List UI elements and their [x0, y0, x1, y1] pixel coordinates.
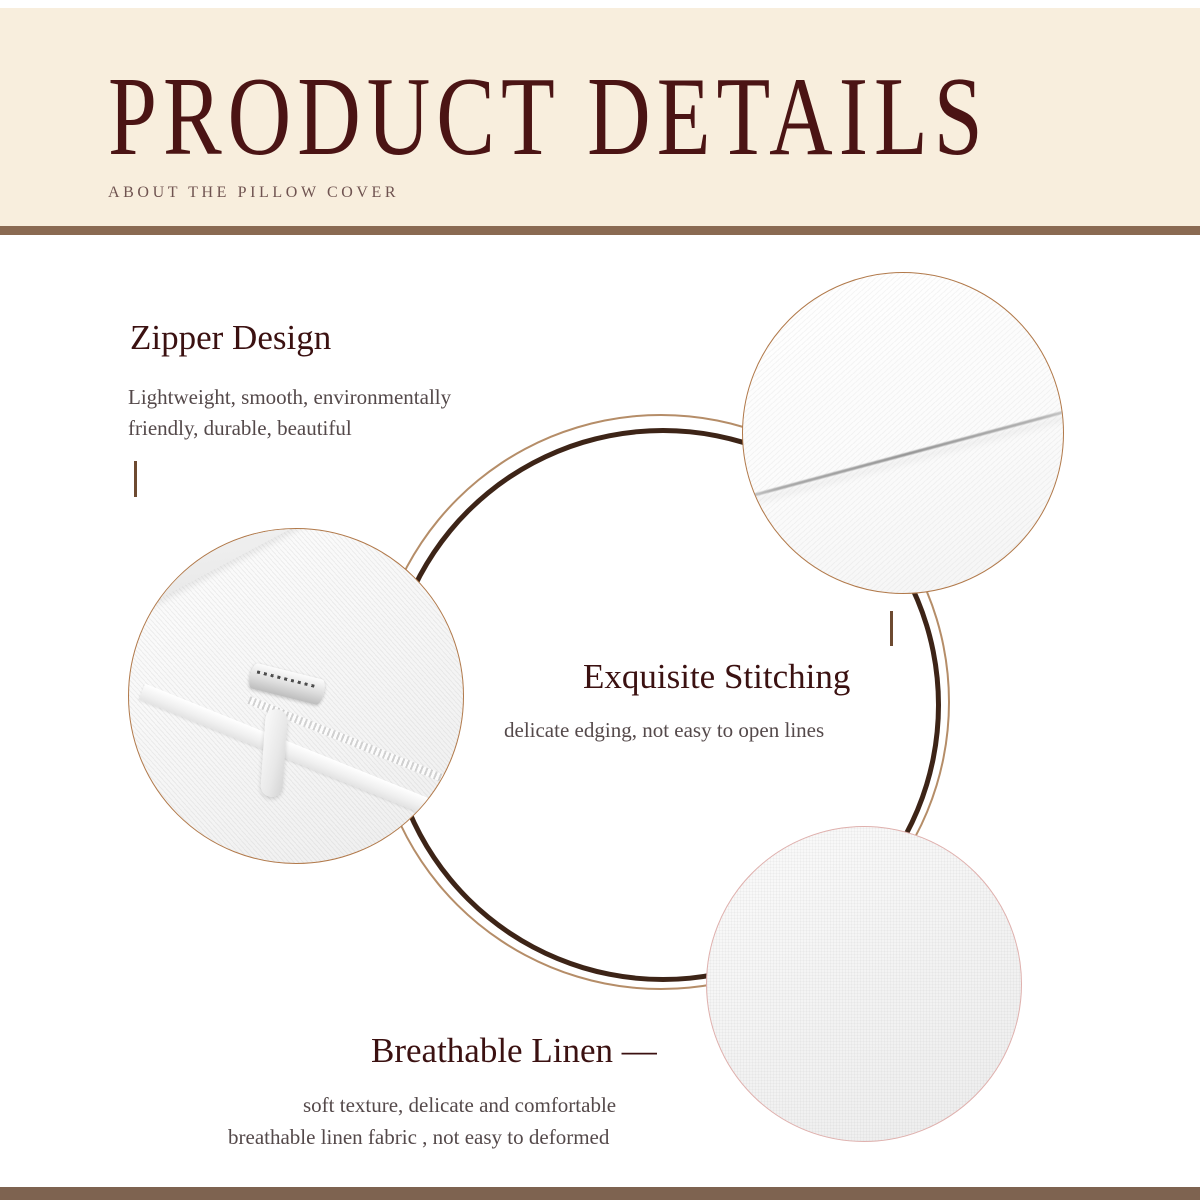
feature-body-stitching: delicate edging, not easy to open lines	[504, 715, 824, 746]
feature-body-zipper: Lightweight, smooth, environmentally fri…	[128, 382, 451, 443]
feature-heading-zipper: Zipper Design	[130, 319, 331, 358]
white-zipper-closeup-photo	[128, 528, 464, 864]
zipper-pull-tab	[260, 709, 288, 798]
feature-body-linen-line-1: soft texture, delicate and comfortable	[303, 1090, 616, 1121]
fabric-seam-closeup-photo	[742, 272, 1064, 594]
zipper-fabric-flap	[128, 528, 464, 636]
footer-rule	[0, 1187, 1200, 1200]
product-details-infographic: PRODUCT DETAILS ABOUT THE PILLOW COVER Z…	[0, 0, 1200, 1200]
seam-shadow	[742, 403, 1064, 522]
zipper-tape	[139, 683, 464, 834]
feature-heading-stitching: Exquisite Stitching	[583, 658, 850, 697]
page-title: PRODUCT DETAILS	[108, 62, 989, 175]
feature-body-line: friendly, durable, beautiful	[128, 413, 451, 444]
accent-tick-zipper	[134, 461, 137, 497]
linen-weave-closeup-photo	[706, 826, 1022, 1142]
page-subtitle: ABOUT THE PILLOW COVER	[108, 184, 399, 202]
feature-heading-linen: Breathable Linen —	[371, 1032, 657, 1071]
accent-tick-stitching	[890, 611, 893, 646]
header-divider-rule	[0, 226, 1200, 235]
feature-body-line: Lightweight, smooth, environmentally	[128, 382, 451, 413]
feature-body-linen-line-2: breathable linen fabric , not easy to de…	[228, 1122, 609, 1153]
